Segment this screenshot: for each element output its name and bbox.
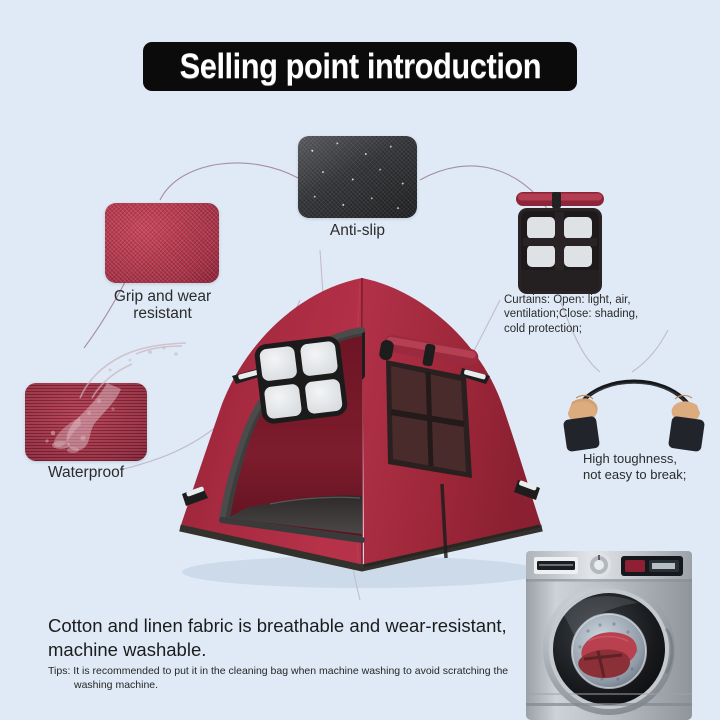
page-title: Selling point introduction (179, 47, 541, 87)
toughness-caption: High toughness, not easy to break; (583, 451, 720, 483)
antislip-caption: Anti-slip (298, 222, 417, 239)
waterproof-caption: Waterproof (25, 464, 147, 481)
pet-tent-image (150, 272, 570, 592)
footer-tip-line2: washing machine. (48, 678, 518, 692)
grip-swatch-icon (105, 203, 219, 283)
connector-grip-to-antislip (160, 163, 298, 200)
footer-tip: Tips: It is recommended to put it in the… (48, 664, 518, 692)
tent-side-mesh-window (386, 360, 472, 478)
tent-door-window (253, 335, 348, 425)
infographic-canvas: Selling point introduction Grip and wear… (0, 0, 720, 720)
page-title-bar: Selling point introduction (143, 42, 577, 91)
toughness-caption-line1: High toughness, (583, 451, 677, 466)
toughness-caption-line2: not easy to break; (583, 467, 686, 482)
hands-bending-rod-icon (556, 358, 712, 454)
footer-headline: Cotton and linen fabric is breathable an… (48, 614, 518, 663)
washing-machine-image (518, 533, 708, 720)
antislip-swatch-icon (298, 136, 417, 218)
footer-tip-line1: Tips: It is recommended to put it in the… (48, 665, 508, 677)
